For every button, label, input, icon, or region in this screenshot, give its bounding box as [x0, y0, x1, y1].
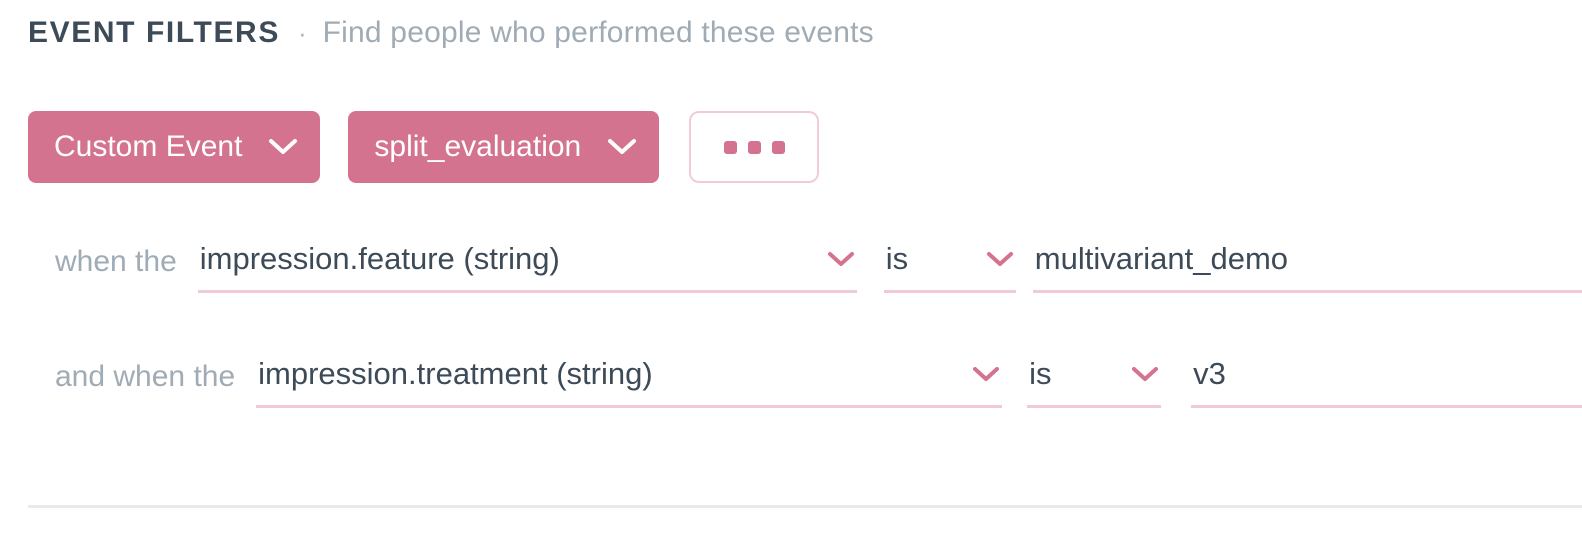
filter-row: and when the impression.treatment (strin…: [55, 349, 1582, 408]
chevron-down-icon: [607, 138, 637, 156]
filter-operator-value: is: [886, 234, 908, 284]
filter-property-value: impression.feature (string): [200, 234, 560, 284]
filter-operator-value: is: [1029, 349, 1051, 399]
filter-value-text: v3: [1193, 349, 1226, 399]
section-description: Find people who performed these events: [323, 16, 874, 50]
chevron-down-icon: [268, 138, 298, 156]
ellipsis-icon-dot-2: [748, 141, 761, 154]
more-options-button[interactable]: [689, 111, 819, 183]
filter-property-select[interactable]: impression.treatment (string): [256, 349, 1002, 408]
event-name-label: split_evaluation: [374, 130, 581, 164]
chevron-down-icon: [972, 366, 1000, 383]
event-selector-row: Custom Event split_evaluation: [28, 111, 819, 183]
filter-operator-select[interactable]: is: [884, 234, 1016, 293]
header-separator: ·: [298, 20, 307, 46]
section-divider: [28, 505, 1582, 508]
filter-property-select[interactable]: impression.feature (string): [198, 234, 857, 293]
event-type-label: Custom Event: [54, 130, 242, 164]
filter-value-input[interactable]: multivariant_demo: [1033, 234, 1582, 293]
section-header: EVENT FILTERS · Find people who performe…: [28, 16, 874, 50]
chevron-down-icon: [827, 251, 855, 268]
event-filters-panel: EVENT FILTERS · Find people who performe…: [0, 0, 1582, 546]
chevron-down-icon: [1131, 366, 1159, 383]
filter-prefix-label: when the: [55, 237, 177, 293]
filter-property-value: impression.treatment (string): [258, 349, 653, 399]
page-title: EVENT FILTERS: [28, 16, 280, 50]
filter-prefix-label: and when the: [55, 352, 235, 408]
filter-value-text: multivariant_demo: [1035, 234, 1288, 284]
filter-operator-select[interactable]: is: [1027, 349, 1161, 408]
event-name-dropdown[interactable]: split_evaluation: [348, 111, 659, 183]
filter-value-input[interactable]: v3: [1191, 349, 1582, 408]
chevron-down-icon: [986, 251, 1014, 268]
event-type-dropdown[interactable]: Custom Event: [28, 111, 320, 183]
filter-row: when the impression.feature (string) is …: [55, 234, 1582, 293]
ellipsis-icon-dot-3: [772, 141, 785, 154]
ellipsis-icon: [724, 141, 737, 154]
